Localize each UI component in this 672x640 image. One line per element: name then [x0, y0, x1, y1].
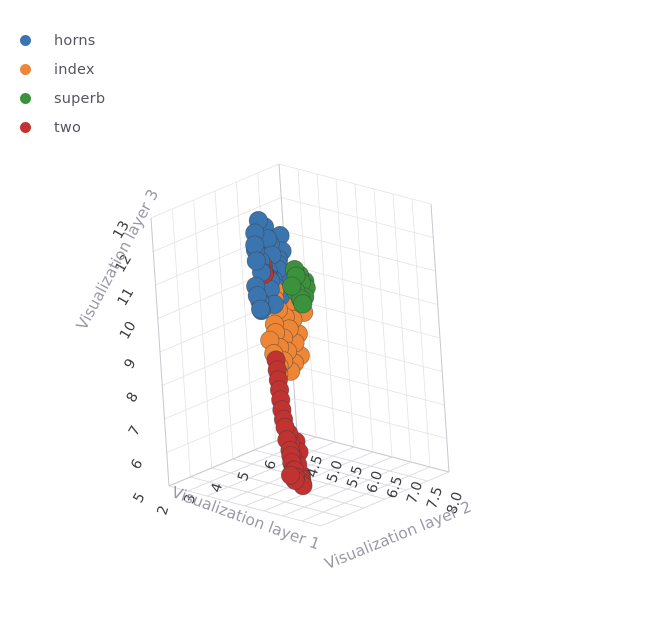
axis-title-y: Visualization layer 2 [322, 498, 474, 573]
axis-tick-label: 5.0 [324, 459, 346, 485]
grid-line [279, 164, 431, 204]
grid-line [151, 218, 169, 486]
axis-tick-label: 5 [130, 490, 148, 506]
axis-tick-label: 10 [117, 319, 140, 342]
grid-line [290, 332, 442, 372]
figure-canvas: horns index superb two 56789101112136543… [0, 0, 672, 640]
grid-line [293, 365, 445, 405]
scatter-point-horns [247, 252, 265, 270]
axis-tick-label: 4 [208, 481, 226, 495]
axis-tick-label: 5.5 [344, 464, 366, 490]
grid-line [284, 231, 436, 271]
grid-line [281, 198, 433, 238]
axis-tick-label: 6.5 [384, 474, 406, 500]
axis-tick-label: 6 [128, 457, 146, 473]
axis-tick-label: 7.0 [404, 480, 426, 506]
axis-tick-label: 2 [154, 504, 172, 517]
axis-tick-label: 6 [262, 458, 280, 472]
axis-tick-label: 7 [126, 423, 144, 439]
scatter-point-two [281, 466, 299, 484]
axis-title-z: Visualization layer 3 [73, 186, 162, 333]
scatter-point-superb [294, 295, 312, 313]
axis-tick-label: 11 [115, 285, 138, 308]
axis-tick-label: 8 [124, 390, 142, 406]
axis-tick-label: 5 [235, 470, 253, 483]
grid-line [295, 399, 447, 439]
grid-line [431, 204, 449, 472]
axis-tick-label: 9 [121, 356, 139, 372]
scatter3d-plot: 5678910111213654324.55.05.56.06.57.07.58… [0, 0, 672, 640]
axis-tick-label: 6.0 [364, 469, 386, 495]
scatter-point-horns [251, 300, 269, 318]
scatter-point-horns [246, 236, 264, 254]
scatter-point-superb [283, 277, 301, 295]
axis-tick-label: 4.5 [304, 453, 326, 479]
